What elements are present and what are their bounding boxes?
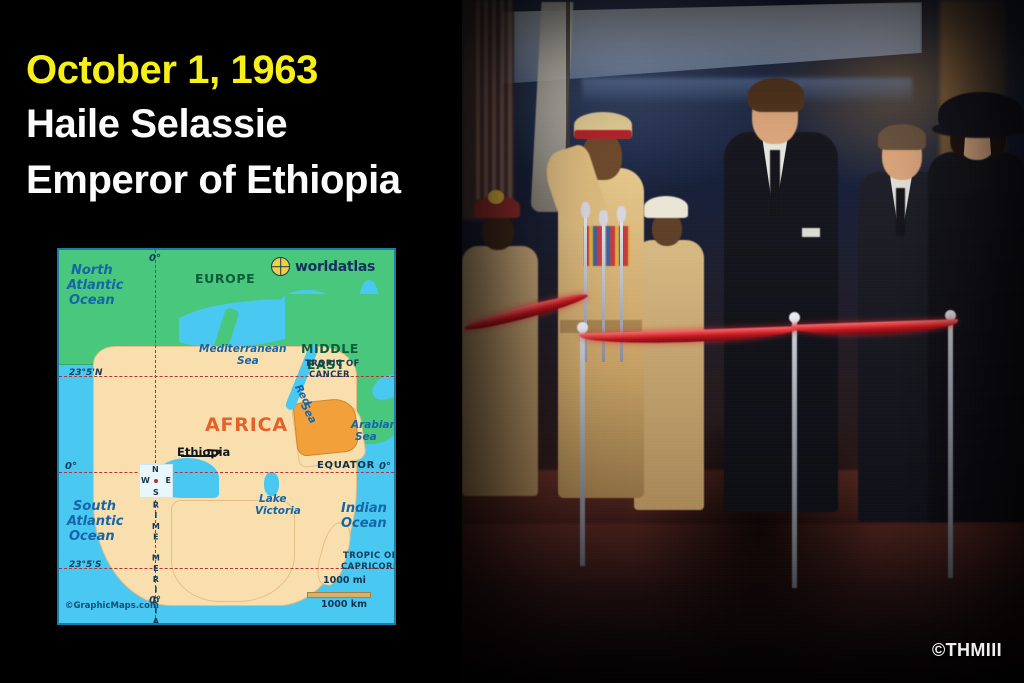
map-credit-label: ©GraphicMaps.com xyxy=(65,602,159,611)
film-grain-overlay xyxy=(462,0,1024,683)
historical-photograph: ©THMIII xyxy=(462,0,1024,683)
south-atlantic-label-line2: Atlantic xyxy=(67,515,123,529)
south-atlantic-label-line3: Ocean xyxy=(69,530,115,544)
north-atlantic-label-line1: North xyxy=(71,264,113,278)
photo-copyright: ©THMIII xyxy=(932,640,1002,661)
ethiopia-pointer-arrow xyxy=(177,438,221,460)
tropic-of-capricorn-label-line2: CAPRICORN xyxy=(341,563,396,572)
worldatlas-logo-text: worldatlas xyxy=(295,259,375,275)
tropic-of-cancer-label-line2: CANCER xyxy=(309,371,350,380)
tropic-of-capricorn-label-line1: TROPIC OF xyxy=(343,552,396,561)
north-atlantic-label-line3: Ocean xyxy=(69,294,115,308)
map-ocean-background: worldatlas North Atlantic Ocean South At… xyxy=(59,250,394,623)
scale-miles-label: 1000 mi xyxy=(323,576,366,586)
slide-person-name: Haile Selassie xyxy=(26,102,287,147)
scale-km-label: 1000 km xyxy=(321,600,367,610)
equator-line xyxy=(59,472,394,473)
latitude-south-label: 23°5'S xyxy=(69,561,102,570)
tropic-of-cancer-label-line1: TROPIC OF xyxy=(305,360,360,369)
worldatlas-logo: worldatlas xyxy=(271,257,375,276)
compass-east-label: E xyxy=(166,476,171,485)
compass-rose: N E S W xyxy=(139,464,173,498)
compass-west-label: W xyxy=(141,476,150,485)
slide-canvas: October 1, 1963 Haile Selassie Emperor o… xyxy=(0,0,1024,683)
indian-ocean-label-line2: Ocean xyxy=(341,517,387,531)
zero-latitude-right-label: 0° xyxy=(379,462,391,473)
zero-latitude-left-label: 0° xyxy=(65,462,77,473)
africa-locator-map: worldatlas North Atlantic Ocean South At… xyxy=(57,248,396,625)
compass-north-label: N xyxy=(152,465,159,474)
south-atlantic-label-line1: South xyxy=(73,500,116,514)
north-atlantic-label-line2: Atlantic xyxy=(67,279,123,293)
lake-victoria-label-line2: Victoria xyxy=(255,506,301,517)
slide-person-role: Emperor of Ethiopia xyxy=(26,158,401,203)
middle-east-label-line1: MIDDLE xyxy=(301,342,359,355)
title-panel: October 1, 1963 Haile Selassie Emperor o… xyxy=(0,0,462,683)
latitude-north-label: 23°5'N xyxy=(69,369,103,378)
mediterranean-sea-label-line1: Mediterranean xyxy=(199,344,286,355)
arabian-sea-label-line1: Arabian xyxy=(351,420,396,431)
europe-label: EUROPE xyxy=(195,272,255,285)
compass-south-label: S xyxy=(153,488,159,497)
equator-label: EQUATOR xyxy=(317,461,375,472)
globe-icon xyxy=(271,257,290,276)
mediterranean-sea-label-line2: Sea xyxy=(237,356,259,367)
indian-ocean-label-line1: Indian xyxy=(341,502,387,516)
arabian-sea-label-line2: Sea xyxy=(355,432,377,443)
scale-bar xyxy=(307,592,371,598)
compass-center-dot xyxy=(154,479,158,483)
lake-victoria-label-line1: Lake xyxy=(259,494,287,505)
slide-date: October 1, 1963 xyxy=(26,48,318,93)
africa-label: AFRICA xyxy=(205,416,288,436)
zero-longitude-top-label: 0° xyxy=(149,254,161,265)
